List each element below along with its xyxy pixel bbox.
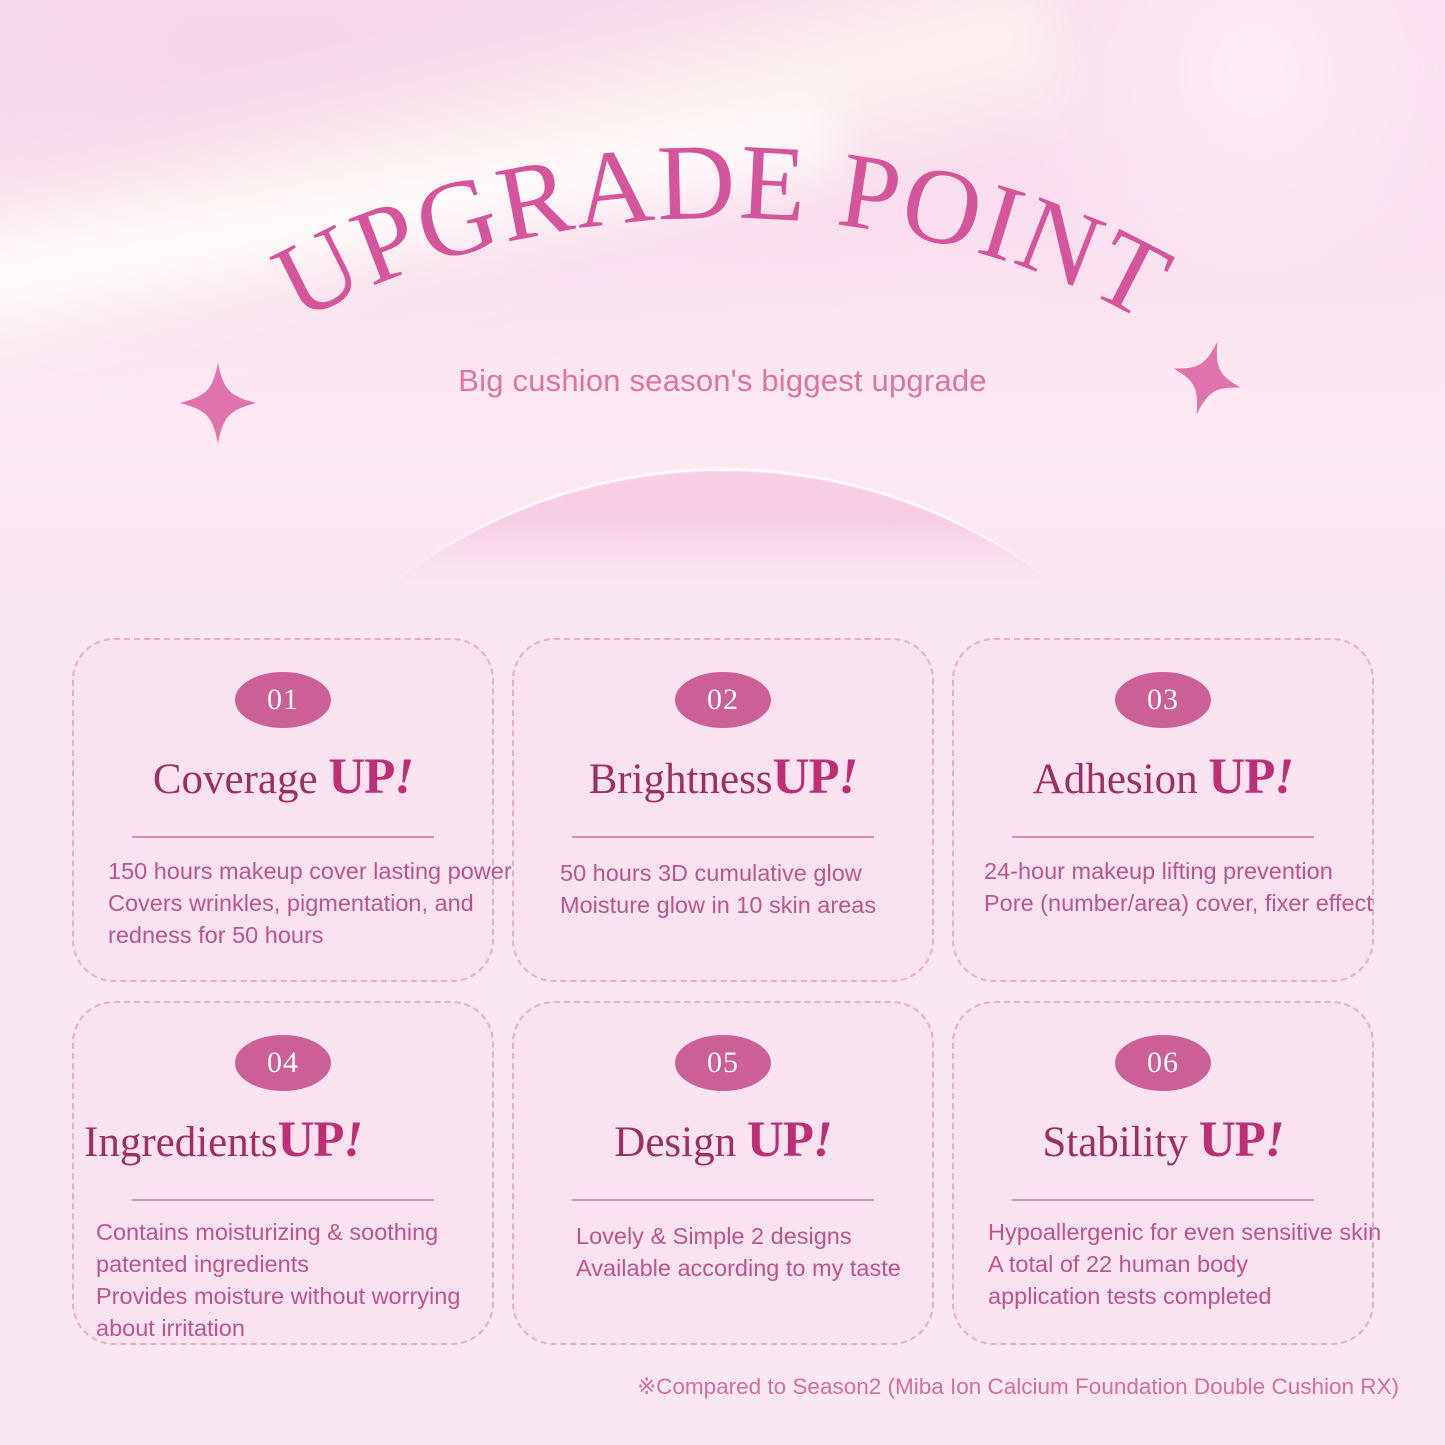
card-body-line: A total of 22 human body application tes… [988, 1249, 1364, 1313]
card-title: Coverage UP! [74, 748, 492, 807]
upgrade-point-card-grid: 01 Coverage UP! 150 hours makeup cover l… [72, 638, 1374, 1345]
upgrade-point-infographic: UPGRADE POINT Big cushion season's bigge… [0, 0, 1445, 1445]
svg-text:UPGRADE POINT: UPGRADE POINT [256, 122, 1189, 343]
card-number-badge: 05 [675, 1035, 771, 1091]
card-number-badge: 03 [1115, 672, 1211, 728]
card-body-line: Moisture glow in 10 skin areas [560, 890, 918, 922]
card-divider [572, 1199, 874, 1201]
card-title: Adhesion UP! [954, 748, 1372, 807]
card-title-label: Coverage [153, 756, 318, 803]
comparison-footnote: ※Compared to Season2 (Miba Ion Calcium F… [0, 1374, 1399, 1400]
hero-subtitle: Big cushion season's biggest upgrade [0, 363, 1445, 399]
hero-title-text: UPGRADE POINT [256, 122, 1189, 343]
card-up-label: UP! [773, 749, 858, 805]
card-title-label: Brightness [589, 756, 773, 803]
hero-banner: UPGRADE POINT Big cushion season's bigge… [0, 0, 1445, 582]
card-divider [1012, 836, 1314, 838]
card-body: Lovely & Simple 2 designs Available acco… [576, 1221, 918, 1285]
card-up-label: UP! [277, 1112, 362, 1168]
card-body-line: Hypoallergenic for even sensitive skin [988, 1217, 1364, 1249]
card-body-line: 150 hours makeup cover lasting power [108, 856, 478, 888]
card-body-line: 24-hour makeup lifting prevention [984, 856, 1364, 888]
card-body-line: Provides moisture without worrying about… [96, 1281, 482, 1345]
upgrade-card-design: 05 Design UP! Lovely & Simple 2 designs … [512, 1001, 934, 1345]
upgrade-card-brightness: 02 BrightnessUP! 50 hours 3D cumulative … [512, 638, 934, 982]
upgrade-card-stability: 06 Stability UP! Hypoallergenic for even… [952, 1001, 1374, 1345]
card-title-label: Design [614, 1119, 736, 1166]
card-title: IngredientsUP! [74, 1111, 492, 1170]
card-body: Hypoallergenic for even sensitive skin A… [988, 1217, 1364, 1313]
card-title: Stability UP! [954, 1111, 1372, 1170]
card-title: Design UP! [514, 1111, 932, 1170]
card-up-label: UP! [328, 749, 413, 805]
card-body: Contains moisturizing & soothing patente… [96, 1217, 482, 1345]
card-body: 150 hours makeup cover lasting power Cov… [108, 856, 478, 952]
card-title: BrightnessUP! [514, 748, 932, 807]
upgrade-card-coverage: 01 Coverage UP! 150 hours makeup cover l… [72, 638, 494, 982]
card-number-badge: 01 [235, 672, 331, 728]
card-up-label: UP! [1199, 1112, 1284, 1168]
card-number-badge: 06 [1115, 1035, 1211, 1091]
upgrade-card-ingredients: 04 IngredientsUP! Contains moisturizing … [72, 1001, 494, 1345]
card-divider [132, 1199, 434, 1201]
card-body: 24-hour makeup lifting prevention Pore (… [984, 856, 1364, 920]
card-divider [1012, 1199, 1314, 1201]
card-number-badge: 02 [675, 672, 771, 728]
card-body-line: 50 hours 3D cumulative glow [560, 858, 918, 890]
card-title-label: Stability [1042, 1119, 1188, 1166]
card-divider [572, 836, 874, 838]
card-body-line: Available according to my taste [576, 1253, 918, 1285]
card-body-line: Contains moisturizing & soothing patente… [96, 1217, 482, 1281]
hero-dome-fade [0, 520, 1445, 582]
card-up-label: UP! [747, 1112, 832, 1168]
upgrade-card-adhesion: 03 Adhesion UP! 24-hour makeup lifting p… [952, 638, 1374, 982]
card-body: 50 hours 3D cumulative glow Moisture glo… [560, 858, 918, 922]
card-title-label: Adhesion [1033, 756, 1198, 803]
card-up-label: UP! [1208, 749, 1293, 805]
card-body-line: Covers wrinkles, pigmentation, and redne… [108, 888, 478, 952]
card-body-line: Lovely & Simple 2 designs [576, 1221, 918, 1253]
card-body-line: Pore (number/area) cover, fixer effect [984, 888, 1364, 920]
card-divider [132, 836, 434, 838]
card-number-badge: 04 [235, 1035, 331, 1091]
card-title-label: Ingredients [84, 1119, 277, 1166]
